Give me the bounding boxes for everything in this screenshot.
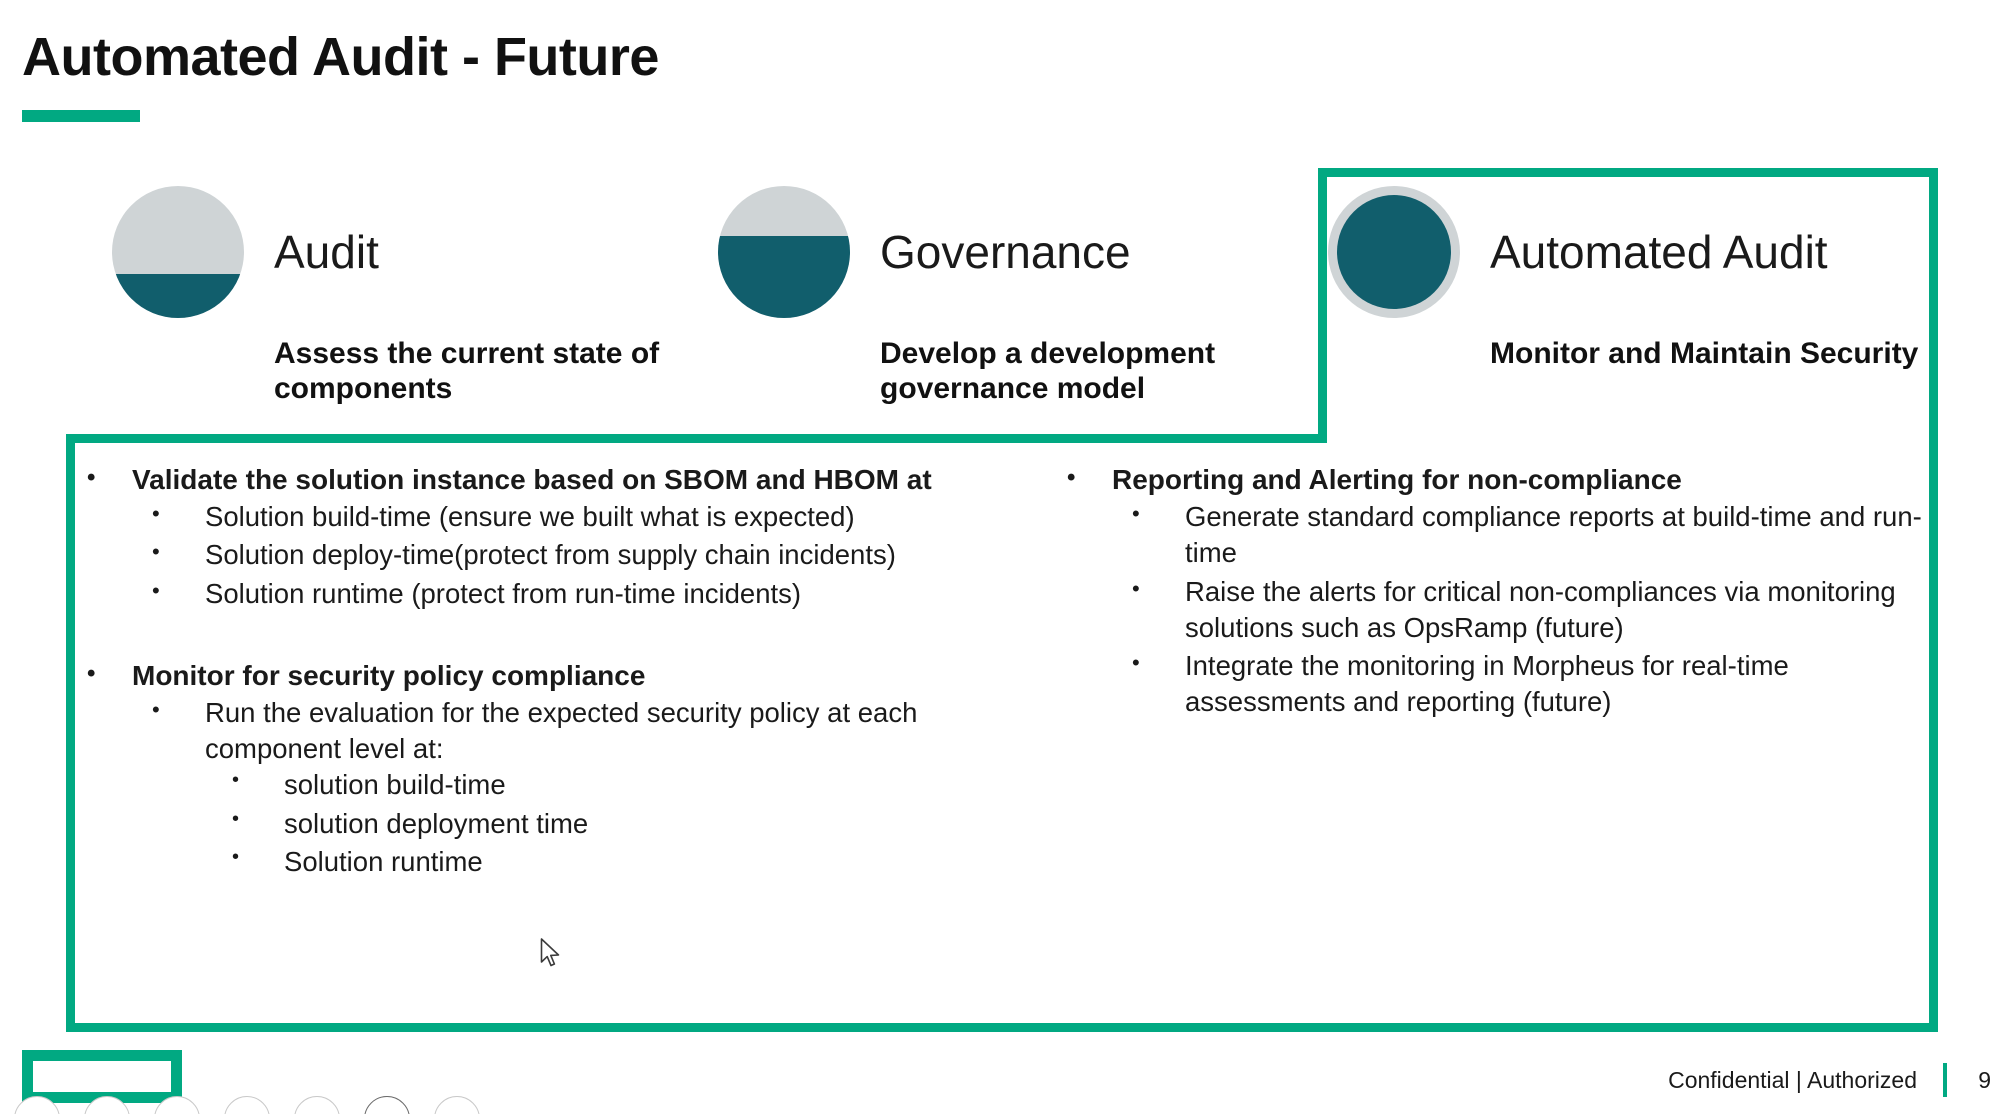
bullet-level-1-list: Validate the solution instance based on … xyxy=(78,462,1008,612)
confidentiality-label: Confidential | Authorized xyxy=(1668,1067,1917,1094)
bullet-text: Integrate the monitoring in Morpheus for… xyxy=(1185,648,1948,721)
dock-button-6[interactable] xyxy=(364,1096,410,1114)
pillar-governance-subtitle: Develop a development governance model xyxy=(880,336,1310,407)
two-thirds-filled-circle-icon xyxy=(718,186,850,318)
page-title: Automated Audit - Future xyxy=(22,26,659,88)
pillar-audit-row: Audit xyxy=(112,186,704,318)
bullet-text: Solution build-time (ensure we built wha… xyxy=(205,499,1008,535)
bullet-text: Run the evaluation for the expected secu… xyxy=(205,695,1008,768)
dock-button-7[interactable] xyxy=(434,1096,480,1114)
bullet-text: Raise the alerts for critical non-compli… xyxy=(1185,574,1948,647)
bullet-group-gap xyxy=(78,616,1008,658)
bullet-level-3-list: solution build-timesolution deployment t… xyxy=(205,767,1008,880)
frame-join-mask xyxy=(1327,429,1929,443)
bullet-level-2-list: Generate standard compliance reports at … xyxy=(1112,499,1948,721)
bullet-item: Solution runtime (protect from run-time … xyxy=(132,576,1008,612)
bullet-heading: Validate the solution instance based on … xyxy=(78,462,1008,612)
bullet-column-right: Reporting and Alerting for non-complianc… xyxy=(1058,462,1948,725)
bullet-item: Solution build-time (ensure we built wha… xyxy=(132,499,1008,535)
pillar-automated-audit-subtitle: Monitor and Maintain Security xyxy=(1490,336,1918,371)
pillar-automated-audit-row: Automated Audit xyxy=(1328,186,1918,318)
slide-canvas: Automated Audit - Future Audit Assess th… xyxy=(0,0,2013,1114)
dock-button-4[interactable] xyxy=(224,1096,270,1114)
dock-button-2[interactable] xyxy=(84,1096,130,1114)
disc-fill xyxy=(1337,195,1451,309)
bullet-text: Generate standard compliance reports at … xyxy=(1185,499,1948,572)
title-underline-rule xyxy=(22,110,140,122)
bullet-level-1-list: Reporting and Alerting for non-complianc… xyxy=(1058,462,1948,721)
dock-button-1[interactable] xyxy=(14,1096,60,1114)
disc-fill xyxy=(718,236,850,318)
bullet-heading: Monitor for security policy complianceRu… xyxy=(78,658,1008,880)
bullet-heading: Reporting and Alerting for non-complianc… xyxy=(1058,462,1948,721)
pillar-audit-subtitle: Assess the current state of components xyxy=(274,336,704,407)
bottom-dock[interactable] xyxy=(14,1096,480,1114)
bullet-level-1-list: Monitor for security policy complianceRu… xyxy=(78,658,1008,880)
bullet-text: solution deployment time xyxy=(284,806,1008,842)
pillar-governance-row: Governance xyxy=(718,186,1310,318)
pillar-automated-audit-name: Automated Audit xyxy=(1490,229,1828,275)
bullet-item: Solution deploy-time(protect from supply… xyxy=(132,537,1008,573)
half-filled-circle-icon xyxy=(112,186,244,318)
bullet-item: Generate standard compliance reports at … xyxy=(1112,499,1948,572)
pillar-audit: Audit Assess the current state of compon… xyxy=(112,186,704,407)
bullet-text: Reporting and Alerting for non-complianc… xyxy=(1112,462,1948,499)
pillar-governance: Governance Develop a development governa… xyxy=(718,186,1310,407)
bullet-item: Integrate the monitoring in Morpheus for… xyxy=(1112,648,1948,721)
bullet-text: Solution runtime xyxy=(284,844,1008,880)
bullet-subitem: solution deployment time xyxy=(205,806,1008,842)
pillar-automated-audit: Automated Audit Monitor and Maintain Sec… xyxy=(1328,186,1918,371)
page-number: 9 xyxy=(1973,1067,1991,1094)
bullet-level-2-list: Run the evaluation for the expected secu… xyxy=(132,695,1008,880)
bullet-text: solution build-time xyxy=(284,767,1008,803)
footer: Confidential | Authorized 9 xyxy=(1668,1063,1991,1097)
bullet-item: Run the evaluation for the expected secu… xyxy=(132,695,1008,880)
footer-divider xyxy=(1943,1063,1947,1097)
bullet-subitem: Solution runtime xyxy=(205,844,1008,880)
bullet-column-left: Validate the solution instance based on … xyxy=(78,462,1008,884)
bullet-item: Raise the alerts for critical non-compli… xyxy=(1112,574,1948,647)
disc-fill xyxy=(112,274,244,318)
mouse-pointer-icon xyxy=(540,938,562,970)
bullet-text: Monitor for security policy compliance xyxy=(132,658,1008,695)
full-filled-circle-icon xyxy=(1328,186,1460,318)
bullet-text: Solution runtime (protect from run-time … xyxy=(205,576,1008,612)
dock-button-3[interactable] xyxy=(154,1096,200,1114)
bullet-text: Validate the solution instance based on … xyxy=(132,462,1008,499)
dock-button-5[interactable] xyxy=(294,1096,340,1114)
bullet-text: Solution deploy-time(protect from supply… xyxy=(205,537,1008,573)
bullet-level-2-list: Solution build-time (ensure we built wha… xyxy=(132,499,1008,612)
pillar-governance-name: Governance xyxy=(880,229,1131,275)
pillar-audit-name: Audit xyxy=(274,229,379,275)
bullet-subitem: solution build-time xyxy=(205,767,1008,803)
